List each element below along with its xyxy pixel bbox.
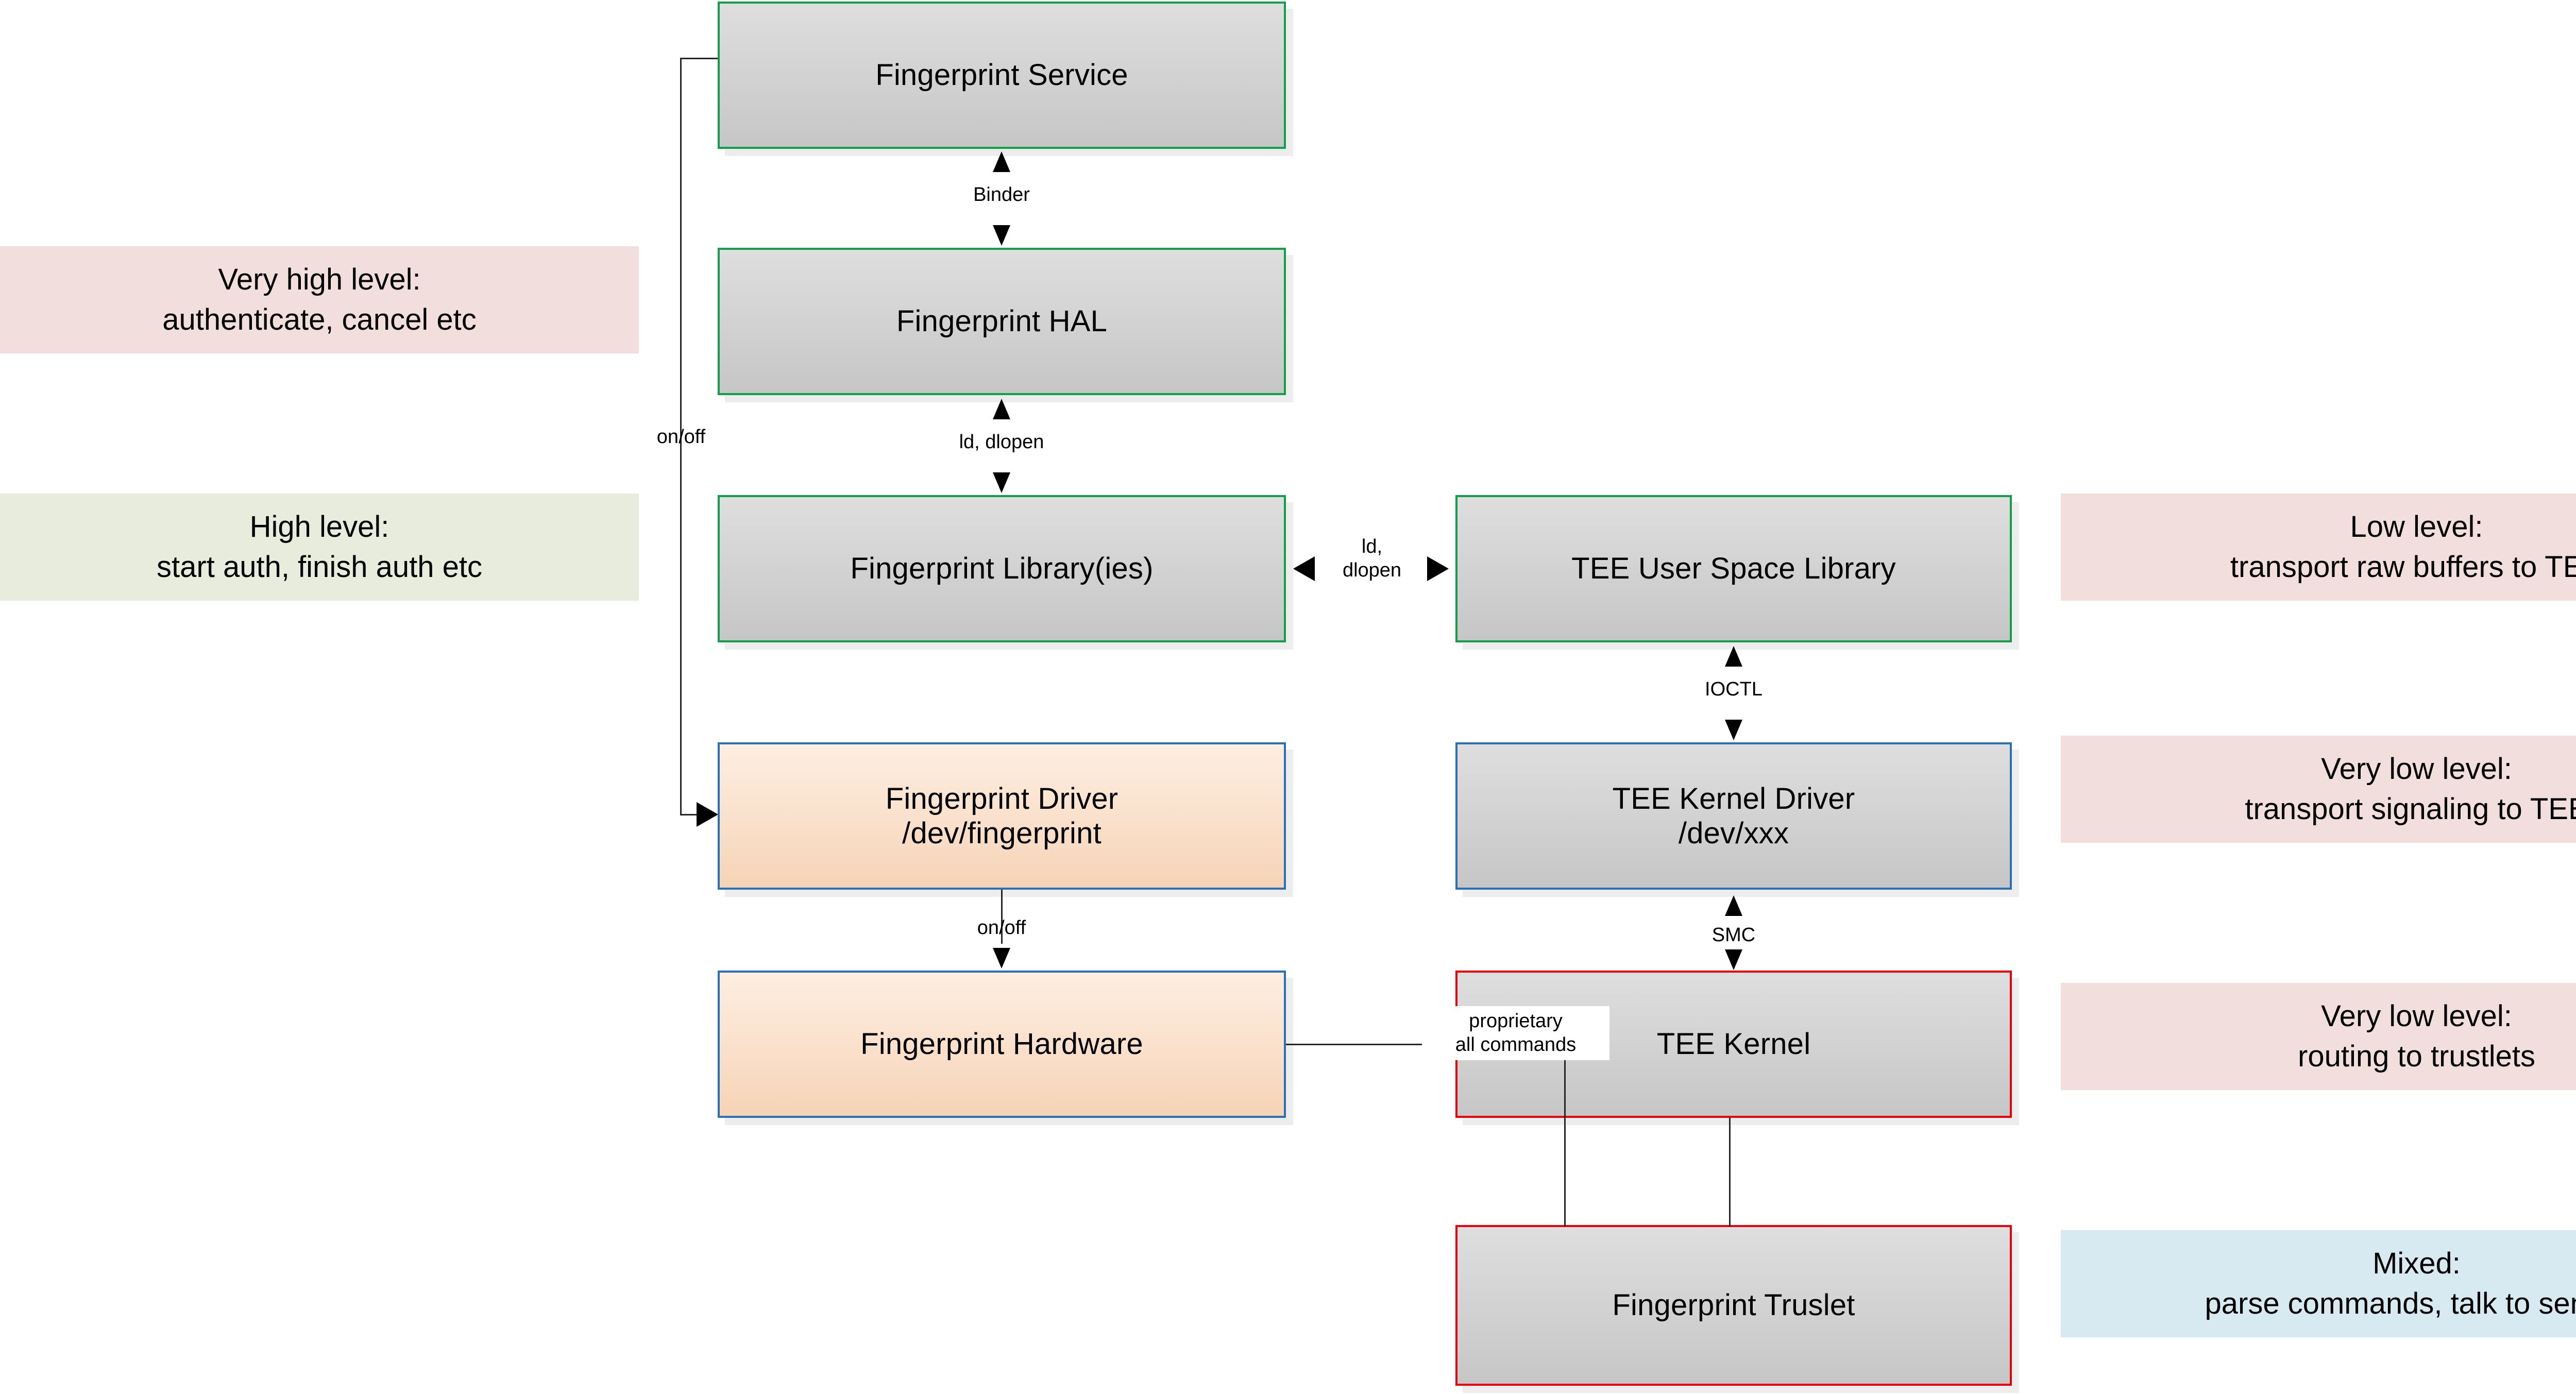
edge-label-ioctl: IOCTL [1677, 677, 1790, 701]
node-label: Fingerprint Truslet [1612, 1288, 1855, 1322]
arrowhead-binder-down [993, 225, 1010, 246]
annotation-line-1: Low level: [2350, 507, 2483, 547]
node-fingerprint-driver[interactable]: Fingerprint Driver /dev/fingerprint [718, 742, 1286, 890]
annotation-line-1: Mixed: [2372, 1244, 2461, 1284]
node-label: TEE User Space Library [1571, 551, 1896, 586]
annotation-line-1: High level: [250, 507, 389, 547]
edge-label-line-1: ld, [1362, 536, 1382, 557]
annotation-line-2: authenticate, cancel etc [162, 300, 476, 340]
edge-label-line-1: proprietary [1469, 1010, 1563, 1032]
arrowhead-teeuserlib-right [1427, 556, 1449, 581]
arrowhead-to-fingerprint-driver [697, 802, 718, 827]
annotation-high-level: High level: start auth, finish auth etc [0, 494, 639, 601]
annotation-line-2: transport raw buffers to TEE [2230, 547, 2576, 587]
edge-label-hal-library-ld-dlopen: ld, dlopen [919, 430, 1084, 454]
arrowhead-hal-library-down [993, 472, 1010, 493]
node-fingerprint-truslet[interactable]: Fingerprint Truslet [1455, 1225, 2012, 1386]
annotation-very-high-level: Very high level: authenticate, cancel et… [0, 246, 639, 353]
node-label: TEE Kernel [1657, 1027, 1811, 1061]
node-label-line-2: /dev/fingerprint [902, 816, 1101, 851]
arrowhead-hal-library-up [993, 399, 1010, 419]
annotation-low-level: Low level: transport raw buffers to TEE [2061, 494, 2576, 601]
node-fingerprint-library[interactable]: Fingerprint Library(ies) [718, 495, 1286, 642]
diagram-canvas: Very high level: authenticate, cancel et… [0, 0, 2576, 1394]
arrowhead-smc-down [1725, 949, 1742, 970]
connector-hardware-to-truslet-vertical [1564, 1044, 1566, 1227]
edge-label-line-2: all commands [1455, 1034, 1576, 1056]
node-label-line-1: Fingerprint Driver [886, 781, 1118, 816]
node-tee-kernel-driver[interactable]: TEE Kernel Driver /dev/xxx [1455, 742, 2012, 890]
node-label-line-1: TEE Kernel Driver [1613, 781, 1855, 816]
connector-teekernel-to-truslet-vertical [1729, 1118, 1731, 1227]
annotation-line-2: parse commands, talk to sensor [2205, 1284, 2576, 1324]
connector-service-to-driver-horizontal [680, 58, 720, 59]
edge-label-service-driver-onoff: on/off [635, 425, 727, 449]
annotation-line-1: Very high level: [218, 260, 420, 300]
node-label: Fingerprint HAL [896, 304, 1107, 338]
node-label-line-2: /dev/xxx [1679, 816, 1789, 851]
arrowhead-smc-up [1725, 895, 1742, 916]
annotation-mixed: Mixed: parse commands, talk to sensor [2061, 1230, 2576, 1337]
edge-label-smc: SMC [1677, 923, 1790, 947]
arrowhead-ioctl-down [1725, 720, 1742, 740]
annotation-line-2: transport signaling to TEE [2245, 789, 2576, 829]
edge-label-library-teeuserlib-ld-dlopen: ld, dlopen [1317, 535, 1427, 583]
node-fingerprint-hardware[interactable]: Fingerprint Hardware [718, 971, 1286, 1118]
edge-label-line-2: dlopen [1343, 559, 1401, 581]
node-tee-user-space-library[interactable]: TEE User Space Library [1455, 495, 2012, 642]
annotation-very-low-level-routing: Very low level: routing to trustlets [2061, 983, 2576, 1090]
node-label: Fingerprint Library(ies) [850, 551, 1153, 586]
arrowhead-ioctl-up [1725, 646, 1742, 667]
node-fingerprint-hal[interactable]: Fingerprint HAL [718, 248, 1286, 395]
edge-label-driver-hardware-onoff: on/off [955, 916, 1048, 940]
annotation-line-2: start auth, finish auth etc [157, 547, 482, 587]
arrowhead-binder-up [993, 151, 1010, 172]
annotation-line-1: Very low level: [2321, 996, 2512, 1036]
node-label: Fingerprint Hardware [860, 1027, 1143, 1061]
connector-driver-entry-horizontal [680, 814, 699, 815]
edge-label-proprietary-all-commands: proprietary all commands [1422, 1006, 1609, 1060]
annotation-line-2: routing to trustlets [2298, 1036, 2535, 1077]
node-label: Fingerprint Service [875, 58, 1128, 92]
arrowhead-to-fingerprint-hardware [993, 948, 1010, 968]
arrowhead-library-left [1293, 556, 1315, 581]
edge-label-binder: Binder [940, 183, 1063, 207]
annotation-very-low-level-signaling: Very low level: transport signaling to T… [2061, 736, 2576, 843]
annotation-line-1: Very low level: [2321, 749, 2512, 789]
node-fingerprint-service[interactable]: Fingerprint Service [718, 2, 1286, 149]
